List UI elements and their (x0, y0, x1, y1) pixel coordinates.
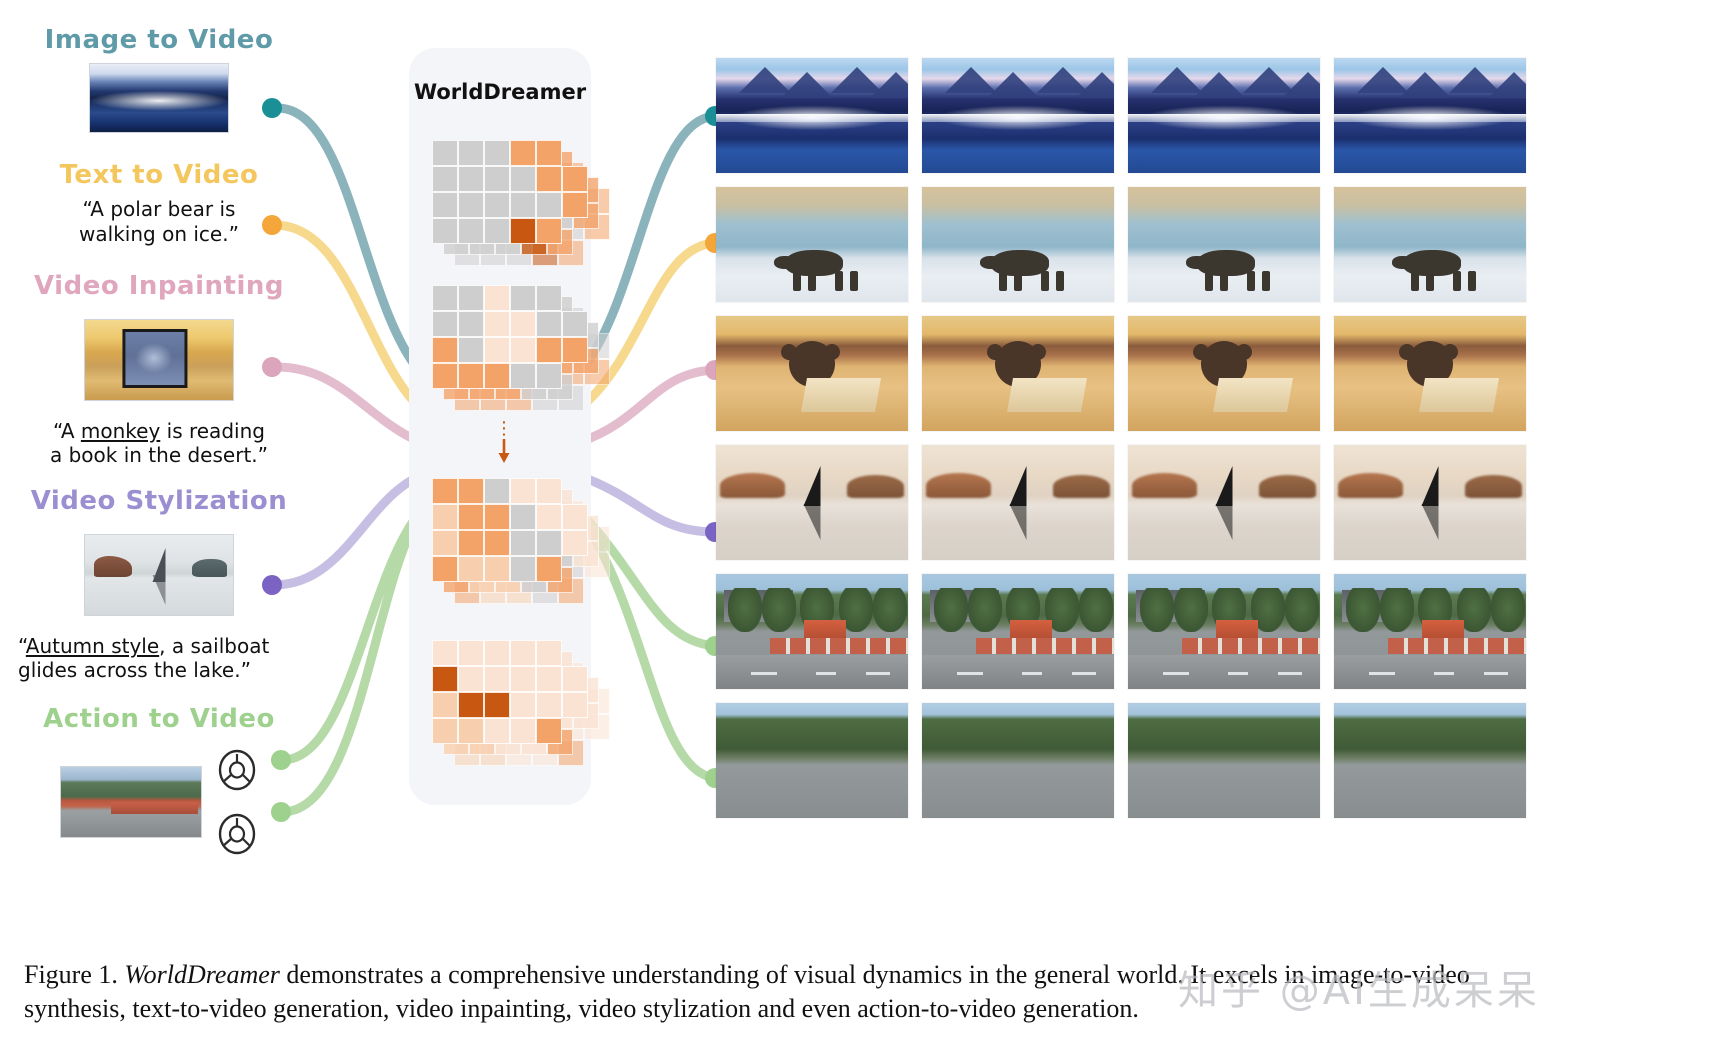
tree (1285, 588, 1319, 632)
token-cell (458, 166, 484, 192)
result-frame (922, 316, 1114, 431)
task-title-video-inpainting: Video Inpainting (18, 272, 300, 301)
task-title-text-to-video: Text to Video (18, 161, 300, 190)
token-cell (458, 640, 484, 666)
token-cell (562, 666, 588, 692)
token-cell (536, 530, 562, 556)
lane-marking (816, 672, 836, 675)
worlddreamer-title: WorldDreamer (409, 80, 591, 104)
token-cell (484, 556, 510, 582)
result-frame (1334, 316, 1526, 431)
task-prompt-text-to-video: “A polar bear is walking on ice.” (18, 197, 300, 246)
prompt-pre: “A (53, 419, 81, 443)
token-cell (562, 337, 588, 363)
task-action-to-video: Action to Video (18, 705, 300, 856)
token-cell (510, 640, 536, 666)
water-highlight (1334, 114, 1526, 122)
token-cell (484, 363, 510, 389)
token-cell (458, 718, 484, 744)
token-cell (536, 504, 562, 530)
shore-hill (1338, 473, 1403, 498)
token-cell (536, 692, 562, 718)
road-barrier (976, 638, 1114, 654)
token-cell (562, 478, 588, 504)
caption-label: Figure 1. (24, 960, 118, 989)
token-cell (432, 478, 458, 504)
water-highlight (1128, 114, 1320, 122)
token-cell (458, 140, 484, 166)
result-frame (716, 703, 908, 818)
sailboat-shape (1216, 466, 1233, 506)
result-row-bear (716, 187, 1526, 302)
token-cell (484, 140, 510, 166)
prompt-post: is reading (160, 419, 265, 443)
token-cell (484, 166, 510, 192)
inpaint-mask-box (122, 329, 187, 388)
sailboat-shape (1422, 504, 1439, 540)
open-book (1213, 378, 1293, 412)
token-cell (432, 363, 458, 389)
lane-marking (1278, 672, 1302, 675)
mountain-peak (781, 72, 833, 98)
token-cell (484, 218, 510, 244)
token-cell (432, 337, 458, 363)
token-cell (562, 692, 588, 718)
tree (1491, 588, 1525, 632)
result-row-street (716, 574, 1526, 689)
shore-hill (720, 473, 785, 498)
tree (934, 588, 968, 632)
token-cell (484, 666, 510, 692)
sailboat-thumbnail (84, 534, 234, 616)
token-cell (510, 337, 536, 363)
task-title-video-stylization: Video Stylization (18, 487, 300, 516)
link-left-action-to-video-1 (282, 512, 420, 760)
sailboat-shape (1216, 504, 1233, 540)
mountain-peak (870, 72, 908, 98)
task-video-inpainting: Video Inpainting “A monkey is reading a … (18, 272, 300, 467)
token-cell (458, 285, 484, 311)
monkey-ear (1399, 344, 1415, 360)
sailboat-shape (1422, 466, 1439, 506)
polar-bear-head (1186, 256, 1208, 269)
token-cell (510, 311, 536, 337)
tree (873, 588, 907, 632)
polar-bear-leg (850, 271, 858, 291)
token-cell (510, 285, 536, 311)
token-layer (432, 478, 588, 582)
token-cell (562, 556, 588, 582)
lane-marking (1484, 672, 1508, 675)
token-cell (510, 140, 536, 166)
lake-thumbnail (89, 63, 229, 133)
polar-bear-leg (808, 271, 816, 291)
token-cell (432, 218, 458, 244)
result-frame (1128, 187, 1320, 302)
barrier-row (111, 802, 198, 813)
token-cell (458, 311, 484, 337)
prompt-emphasis: monkey (81, 419, 160, 443)
prompt-line: a book in the desert.” (18, 443, 300, 467)
token-cell (510, 363, 536, 389)
token-cell (458, 363, 484, 389)
monkey-ear (1193, 344, 1209, 360)
token-cell (458, 692, 484, 718)
token-grid-4 (432, 640, 610, 766)
token-cell (510, 478, 536, 504)
shore-hill (1132, 473, 1197, 498)
result-frame (716, 574, 908, 689)
polar-bear-leg (1205, 271, 1213, 291)
shore-hill (1465, 475, 1523, 498)
token-cell (562, 311, 588, 337)
polar-bear-leg (1014, 271, 1022, 291)
token-cell (432, 718, 458, 744)
caption-line2: synthesis, text-to-video generation, vid… (24, 994, 1139, 1023)
road-barrier (770, 638, 908, 654)
token-cell (562, 285, 588, 311)
token-cell (432, 556, 458, 582)
polar-bear-leg (793, 271, 801, 291)
mountain-peak (1076, 72, 1114, 98)
open-book (801, 378, 881, 412)
token-cell (536, 556, 562, 582)
prompt-line: “A monkey is reading (18, 419, 300, 443)
result-frame (716, 445, 908, 560)
lane-marking (1022, 672, 1042, 675)
tree (762, 588, 796, 632)
token-cell (458, 192, 484, 218)
polar-bear-leg (999, 271, 1007, 291)
polar-bear-leg (1220, 271, 1228, 291)
prompt-line: walking on ice.” (18, 222, 300, 246)
result-row-monkey (716, 316, 1526, 431)
token-cell (458, 337, 484, 363)
monkey-ear (824, 344, 840, 360)
mountain-peak (1282, 72, 1320, 98)
caption-emphasis: WorldDreamer (124, 960, 280, 989)
polar-bear-leg (1056, 271, 1064, 291)
cliff-left (94, 556, 132, 577)
token-cell (510, 218, 536, 244)
lane-marking (751, 672, 777, 675)
watermark: 知乎 @AI生成呆呆 (1178, 958, 1540, 1016)
lane-marking (1228, 672, 1248, 675)
shore-hill (1259, 475, 1317, 498)
token-cell (562, 140, 588, 166)
token-cell (562, 718, 588, 744)
task-image-to-video: Image to Video (18, 26, 300, 133)
token-cell (562, 530, 588, 556)
street-thumbnail (60, 766, 202, 838)
result-frame (922, 187, 1114, 302)
token-cell (536, 285, 562, 311)
prompt-line: “Autumn style, a sailboat (18, 634, 300, 658)
tree (1174, 588, 1208, 632)
token-cell (536, 311, 562, 337)
open-book (1419, 378, 1499, 412)
token-cell (484, 337, 510, 363)
result-frame (716, 58, 908, 173)
token-cell (484, 478, 510, 504)
result-frame (1128, 316, 1320, 431)
token-cell (510, 192, 536, 218)
water-highlight (716, 114, 908, 122)
road-barrier (1388, 638, 1526, 654)
task-video-stylization: Video Stylization “Autumn style, a sailb… (18, 487, 300, 682)
token-cell (458, 556, 484, 582)
token-cell (432, 311, 458, 337)
result-frame (922, 574, 1114, 689)
result-row-street2 (716, 703, 1526, 818)
token-cell (562, 218, 588, 244)
result-frame (716, 187, 908, 302)
result-frame (1128, 574, 1320, 689)
steering-wheel-icon (216, 813, 258, 855)
token-cell (510, 504, 536, 530)
result-frame (922, 703, 1114, 818)
water-highlight (922, 114, 1114, 122)
result-row-sailboat (716, 445, 1526, 560)
shore-hill (847, 475, 905, 498)
tree (1346, 588, 1380, 632)
token-cell (536, 363, 562, 389)
tree (1079, 588, 1113, 632)
token-cell (536, 718, 562, 744)
sail-reflection (153, 575, 166, 605)
token-cell (484, 530, 510, 556)
result-frame (1334, 574, 1526, 689)
sailboat-shape (1010, 504, 1027, 540)
token-cell (510, 718, 536, 744)
token-cell (484, 692, 510, 718)
prompt-line: “A polar bear is (18, 197, 300, 221)
mountain-peak (1399, 72, 1451, 98)
result-frame (716, 316, 908, 431)
token-cell (484, 311, 510, 337)
monkey-ear (1030, 344, 1046, 360)
tree (1140, 588, 1174, 632)
lane-marking (1369, 672, 1395, 675)
monkey-ear (987, 344, 1003, 360)
result-frame (1334, 187, 1526, 302)
token-cell (458, 504, 484, 530)
polar-bear-leg (1453, 271, 1461, 291)
desert-monkey-thumbnail (84, 319, 234, 401)
polar-bear-leg (1262, 271, 1270, 291)
task-text-to-video: Text to Video “A polar bear is walking o… (18, 161, 300, 246)
token-cell (432, 666, 458, 692)
token-cell (458, 530, 484, 556)
polar-bear-head (774, 256, 796, 269)
prompt-post: , a sailboat (159, 634, 269, 658)
shore-hill (926, 473, 991, 498)
token-grid-2 (432, 285, 610, 411)
task-title-action-to-video: Action to Video (18, 705, 300, 734)
token-cell (432, 192, 458, 218)
result-frame (1128, 58, 1320, 173)
token-cell (432, 285, 458, 311)
token-grid-3 (432, 478, 610, 604)
token-cell (432, 692, 458, 718)
token-cell (536, 166, 562, 192)
result-frame (1334, 445, 1526, 560)
monkey-ear (781, 344, 797, 360)
token-cell (536, 218, 562, 244)
token-cell (484, 718, 510, 744)
task-column: Image to Video Text to Video “A polar be… (18, 26, 300, 861)
token-cell (484, 192, 510, 218)
prompt-line: glides across the lake.” (18, 658, 300, 682)
road-barrier (1182, 638, 1320, 654)
token-cell (484, 285, 510, 311)
token-grid-1 (432, 140, 610, 266)
steering-wheel-icon (216, 749, 258, 791)
token-cell (536, 192, 562, 218)
polar-bear-leg (1041, 271, 1049, 291)
result-frame (1334, 703, 1526, 818)
link-left-action-to-video-2 (282, 514, 420, 812)
road-surface (61, 812, 201, 837)
lane-marking (1072, 672, 1096, 675)
lane-marking (957, 672, 983, 675)
cliff-right (192, 559, 228, 577)
task-prompt-video-stylization: “Autumn style, a sailboat glides across … (18, 634, 300, 683)
token-cell (510, 666, 536, 692)
token-cell (536, 478, 562, 504)
sailboat-shape (804, 466, 821, 506)
monkey-ear (1442, 344, 1458, 360)
token-cell (458, 666, 484, 692)
polar-bear-leg (835, 271, 843, 291)
polar-bear-head (1392, 256, 1414, 269)
token-cell (562, 504, 588, 530)
token-cell (510, 166, 536, 192)
token-cell (458, 478, 484, 504)
token-cell (562, 166, 588, 192)
polar-bear-leg (1411, 271, 1419, 291)
token-cell (536, 337, 562, 363)
token-layer (432, 285, 588, 389)
polar-bear-leg (1247, 271, 1255, 291)
result-frame (1128, 703, 1320, 818)
lane-marking (1163, 672, 1189, 675)
token-cell (510, 530, 536, 556)
lane-marking (1434, 672, 1454, 675)
token-cell (562, 640, 588, 666)
open-book (1007, 378, 1087, 412)
token-cell (484, 504, 510, 530)
token-cell (432, 504, 458, 530)
token-cell (510, 692, 536, 718)
result-frame (1128, 445, 1320, 560)
token-cell (562, 363, 588, 389)
sailboat-shape (1010, 466, 1027, 506)
figure-root: Image to Video Text to Video “A polar be… (0, 0, 1716, 1052)
token-cell (536, 666, 562, 692)
token-cell (432, 140, 458, 166)
mountain-peak (1193, 72, 1245, 98)
result-frame (922, 445, 1114, 560)
token-layer (432, 140, 588, 244)
lane-marking (866, 672, 890, 675)
mountain-peak (987, 72, 1039, 98)
token-cell (432, 530, 458, 556)
shore-hill (1053, 475, 1111, 498)
monkey-ear (1236, 344, 1252, 360)
token-cell (432, 640, 458, 666)
polar-bear-leg (1426, 271, 1434, 291)
token-cell (458, 218, 484, 244)
result-frame (1334, 58, 1526, 173)
tree (728, 588, 762, 632)
down-arrow-icon (495, 437, 513, 465)
vertical-ellipsis-arrow: ⋮ (492, 424, 516, 469)
token-cell (562, 192, 588, 218)
task-title-image-to-video: Image to Video (18, 26, 300, 55)
result-row-lake (716, 58, 1526, 173)
results-grid (716, 58, 1526, 832)
token-layer (432, 640, 588, 744)
result-frame (922, 58, 1114, 173)
token-cell (536, 640, 562, 666)
token-cell (510, 556, 536, 582)
ellipsis-glyph: ⋮ (492, 424, 516, 435)
sailboat-shape (804, 504, 821, 540)
task-prompt-video-inpainting: “A monkey is reading a book in the deser… (18, 419, 300, 468)
polar-bear-head (980, 256, 1002, 269)
tree (1380, 588, 1414, 632)
token-cell (432, 166, 458, 192)
tree (968, 588, 1002, 632)
polar-bear-leg (1468, 271, 1476, 291)
prompt-emphasis: Autumn style (26, 634, 159, 658)
mountain-peak (1488, 72, 1526, 98)
token-cell (536, 140, 562, 166)
token-cell (484, 640, 510, 666)
